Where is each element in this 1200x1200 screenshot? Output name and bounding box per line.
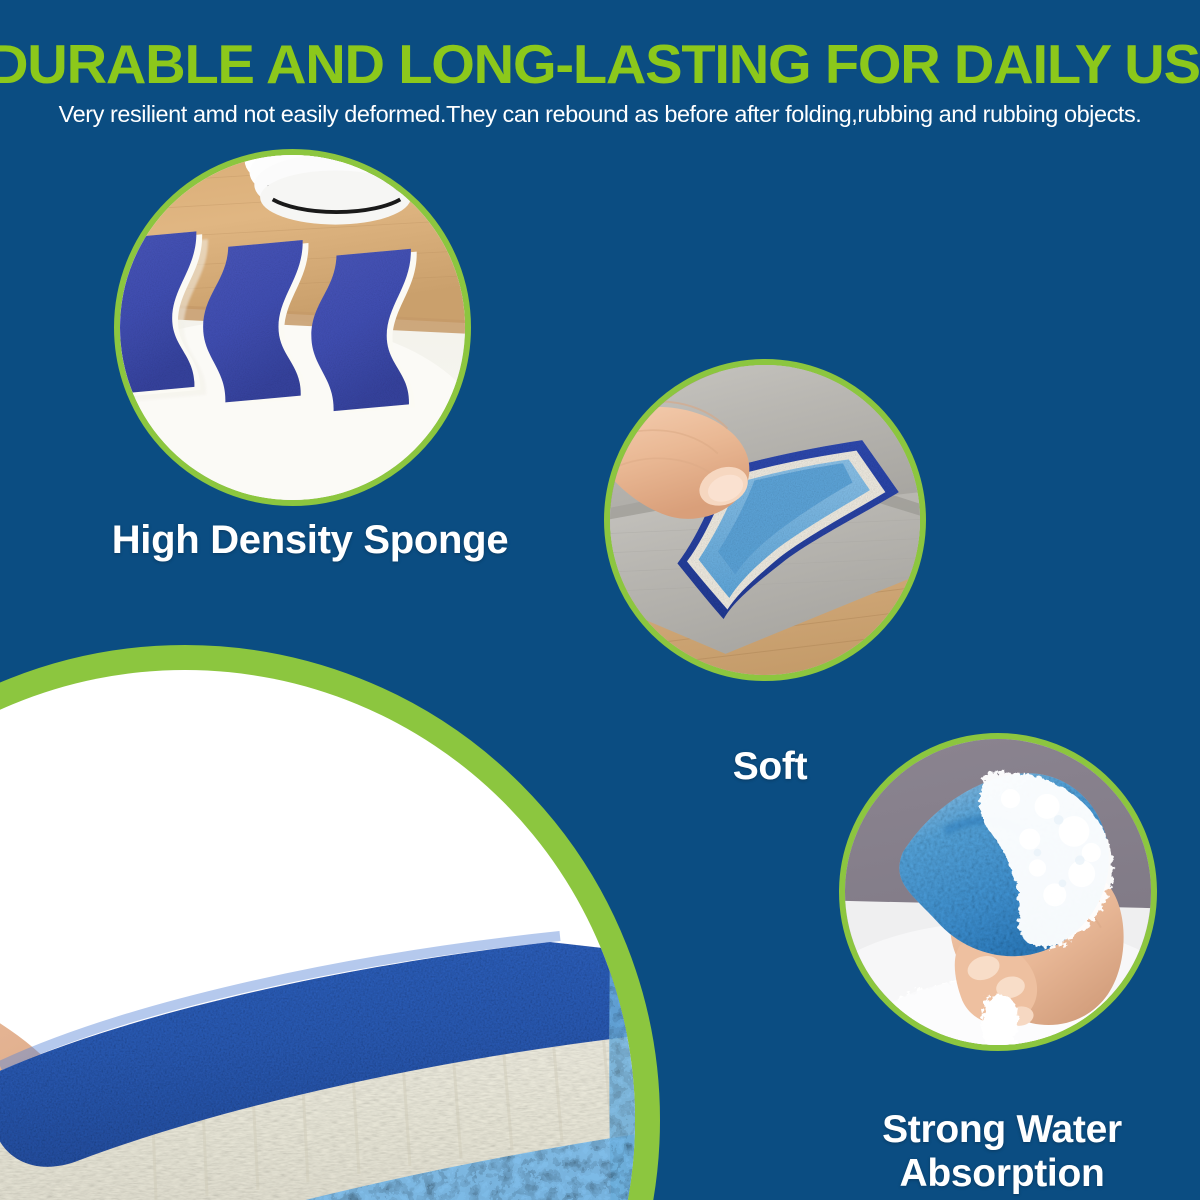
hero-image-sponge-closeup (0, 560, 690, 1200)
page-subtitle: Very resilient amd not easily deformed.T… (0, 100, 1200, 128)
infographic-canvas: DURABLE AND LONG-LASTING FOR DAILY USE V… (0, 0, 1200, 1200)
panel-image-strong-water-absorption (839, 733, 1157, 1051)
caption-line-1: Strong Water (828, 1108, 1176, 1152)
panel-caption-strong-water-absorption: Strong Water Absorption (828, 1108, 1176, 1195)
caption-line-2: Absorption (828, 1152, 1176, 1196)
page-title: DURABLE AND LONG-LASTING FOR DAILY USE (0, 36, 1200, 92)
panel-caption-high-density-sponge: High Density Sponge (60, 518, 560, 563)
panel-image-high-density-sponge (114, 149, 471, 506)
